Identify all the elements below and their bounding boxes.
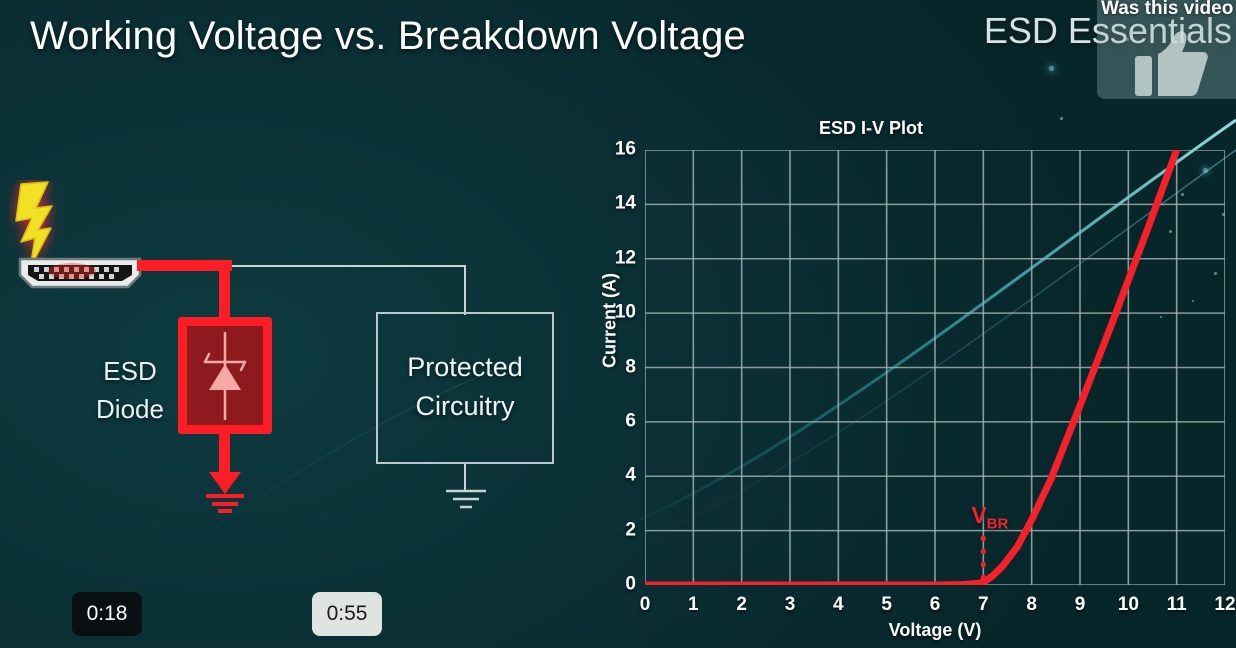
chart-y-tick: 2 xyxy=(625,519,636,541)
esd-diode-label: ESD Diode xyxy=(84,353,176,428)
chart-y-tick: 10 xyxy=(615,302,636,324)
tvs-diode-icon xyxy=(196,332,254,420)
chart-x-tick: 10 xyxy=(1118,594,1139,616)
chart-x-tick: 11 xyxy=(1167,594,1187,616)
breakdown-voltage-label: VBR xyxy=(971,502,1008,533)
slide-canvas: Working Voltage vs. Breakdown Voltage ES… xyxy=(0,0,1236,648)
wire-protected-drop xyxy=(464,265,466,315)
chart-x-tick: 6 xyxy=(930,594,941,616)
protected-circuit-label-line1: Protected xyxy=(376,348,554,387)
chart-x-tick: 5 xyxy=(881,594,892,616)
chart-plot-svg xyxy=(645,150,1225,585)
protected-circuit-label: Protected Circuitry xyxy=(376,348,554,426)
particle-decor xyxy=(1049,66,1054,71)
wire-protected-ground xyxy=(464,462,466,490)
chart-y-tick: 6 xyxy=(625,410,636,432)
protected-circuit-label-line2: Circuitry xyxy=(376,387,554,426)
esd-iv-chart: ESD I-V Plot Current (A) Voltage (V) VBR… xyxy=(586,110,1236,648)
chart-y-tick: 12 xyxy=(615,247,636,269)
hdmi-connector-icon xyxy=(16,255,144,291)
chart-title: ESD I-V Plot xyxy=(586,118,1236,139)
chart-x-tick: 3 xyxy=(785,594,796,616)
chart-y-tick: 16 xyxy=(615,139,636,161)
chart-x-tick: 1 xyxy=(688,594,699,616)
wire-node-to-diode xyxy=(219,260,230,322)
ground-icon xyxy=(442,487,490,513)
esd-diode-label-line2: Diode xyxy=(84,391,176,429)
chart-x-tick: 0 xyxy=(640,594,651,616)
chart-x-axis-label: Voltage (V) xyxy=(645,620,1225,641)
chart-y-tick: 0 xyxy=(625,574,636,596)
ground-icon xyxy=(198,464,252,516)
chart-x-tick: 8 xyxy=(1026,594,1037,616)
esd-diode-label-line1: ESD xyxy=(84,353,176,391)
circuit-diagram: ESD Diode Protected Circuitry xyxy=(0,150,590,570)
feedback-prompt-text: Was this video helpful? xyxy=(1101,0,1236,20)
chart-x-tick: 12 xyxy=(1214,594,1235,616)
feedback-overlay[interactable]: Was this video helpful? xyxy=(1097,0,1236,99)
chart-y-tick: 14 xyxy=(615,193,636,215)
chart-x-tick: 4 xyxy=(833,594,844,616)
chart-x-tick: 9 xyxy=(1075,594,1086,616)
wire-connector-to-node xyxy=(137,260,232,271)
wire-to-protected-circuit xyxy=(228,265,466,267)
chart-plot-area: VBR02468101214160123456789101112 xyxy=(645,150,1225,585)
chart-x-tick: 7 xyxy=(978,594,989,616)
current-time-chip[interactable]: 0:18 xyxy=(72,592,142,636)
chart-x-tick: 2 xyxy=(736,594,747,616)
page-title: Working Voltage vs. Breakdown Voltage xyxy=(30,14,746,59)
total-time-chip[interactable]: 0:55 xyxy=(312,592,382,636)
chart-y-tick: 4 xyxy=(625,465,636,487)
chart-y-tick: 8 xyxy=(625,356,636,378)
thumbs-up-icon[interactable] xyxy=(1135,30,1209,96)
